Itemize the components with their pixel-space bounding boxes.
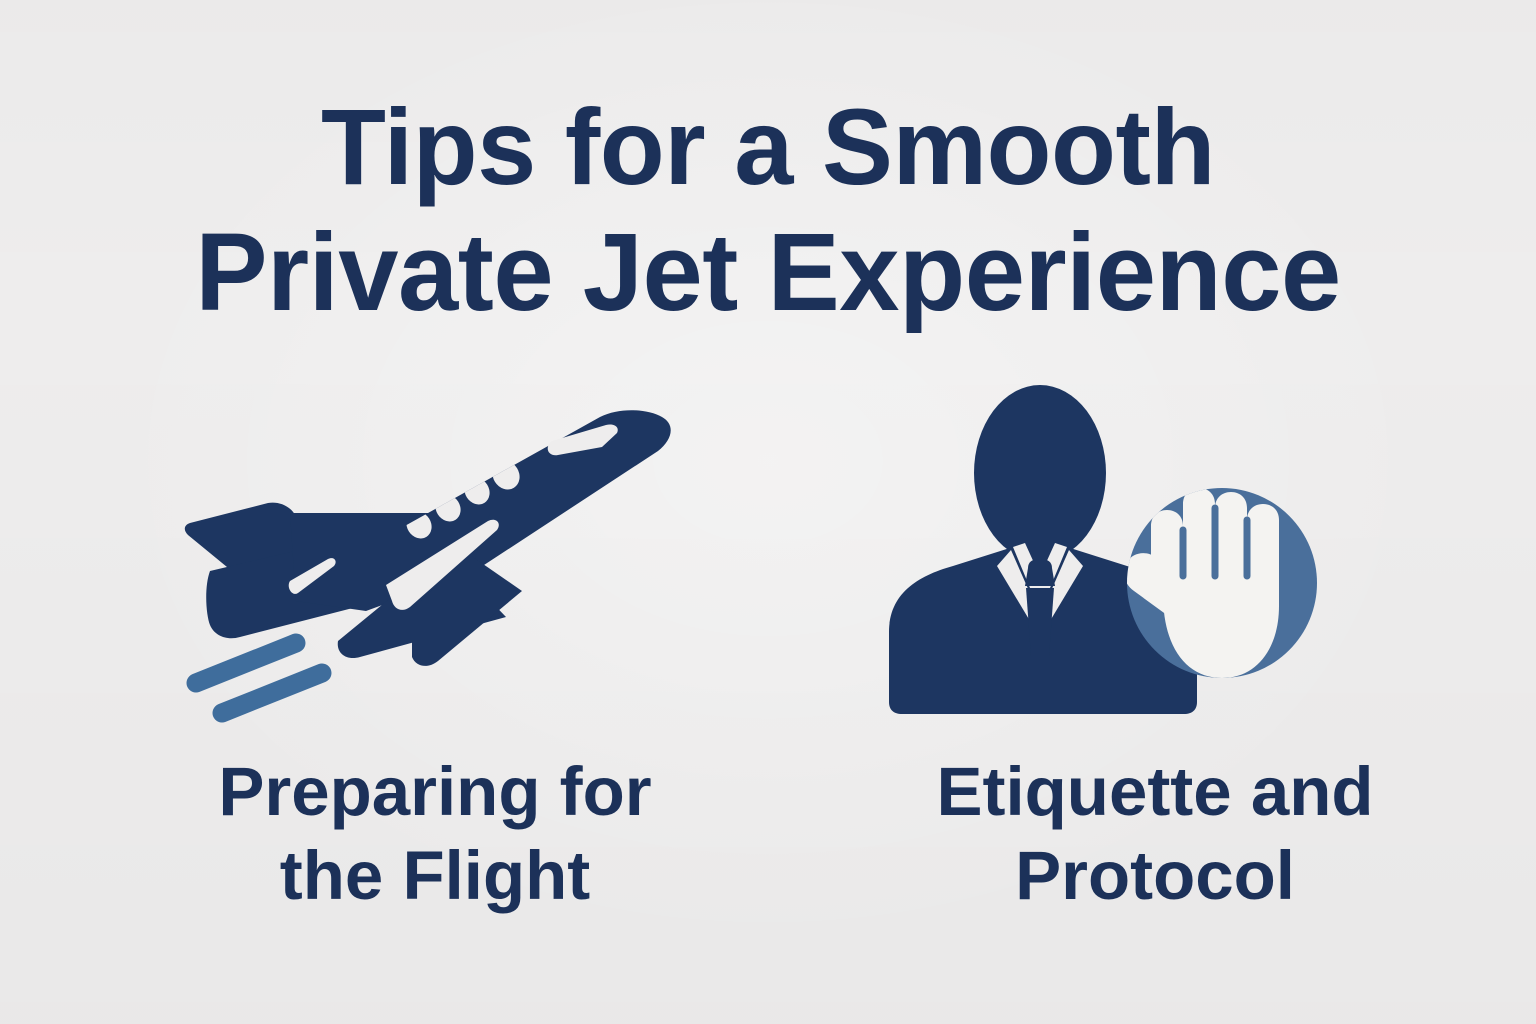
speed-line-2 [222,673,322,713]
caption-right-line-2: Protocol [855,834,1455,918]
speed-line-1 [196,643,296,683]
person-head [974,385,1106,561]
page-title-line-1: Tips for a Smooth [12,84,1525,210]
airplane-speed-lines [196,643,322,713]
section-caption-preparing-for-the-flight: Preparing for the Flight [130,750,740,918]
airplane-silhouette [185,410,671,666]
airplane-takeoff-icon [170,395,680,715]
section-caption-etiquette-and-protocol: Etiquette and Protocol [855,750,1455,918]
person-in-suit-with-stop-hand-icon [865,380,1335,720]
caption-left-line-1: Preparing for [130,750,740,834]
person-necktie-knot [1025,559,1055,586]
caption-left-line-2: the Flight [130,834,740,918]
page-title: Tips for a Smooth Private Jet Experience [0,84,1536,336]
infographic-poster: Tips for a Smooth Private Jet Experience [0,0,1536,1024]
caption-right-line-1: Etiquette and [855,750,1455,834]
page-title-line-2: Private Jet Experience [12,210,1525,336]
